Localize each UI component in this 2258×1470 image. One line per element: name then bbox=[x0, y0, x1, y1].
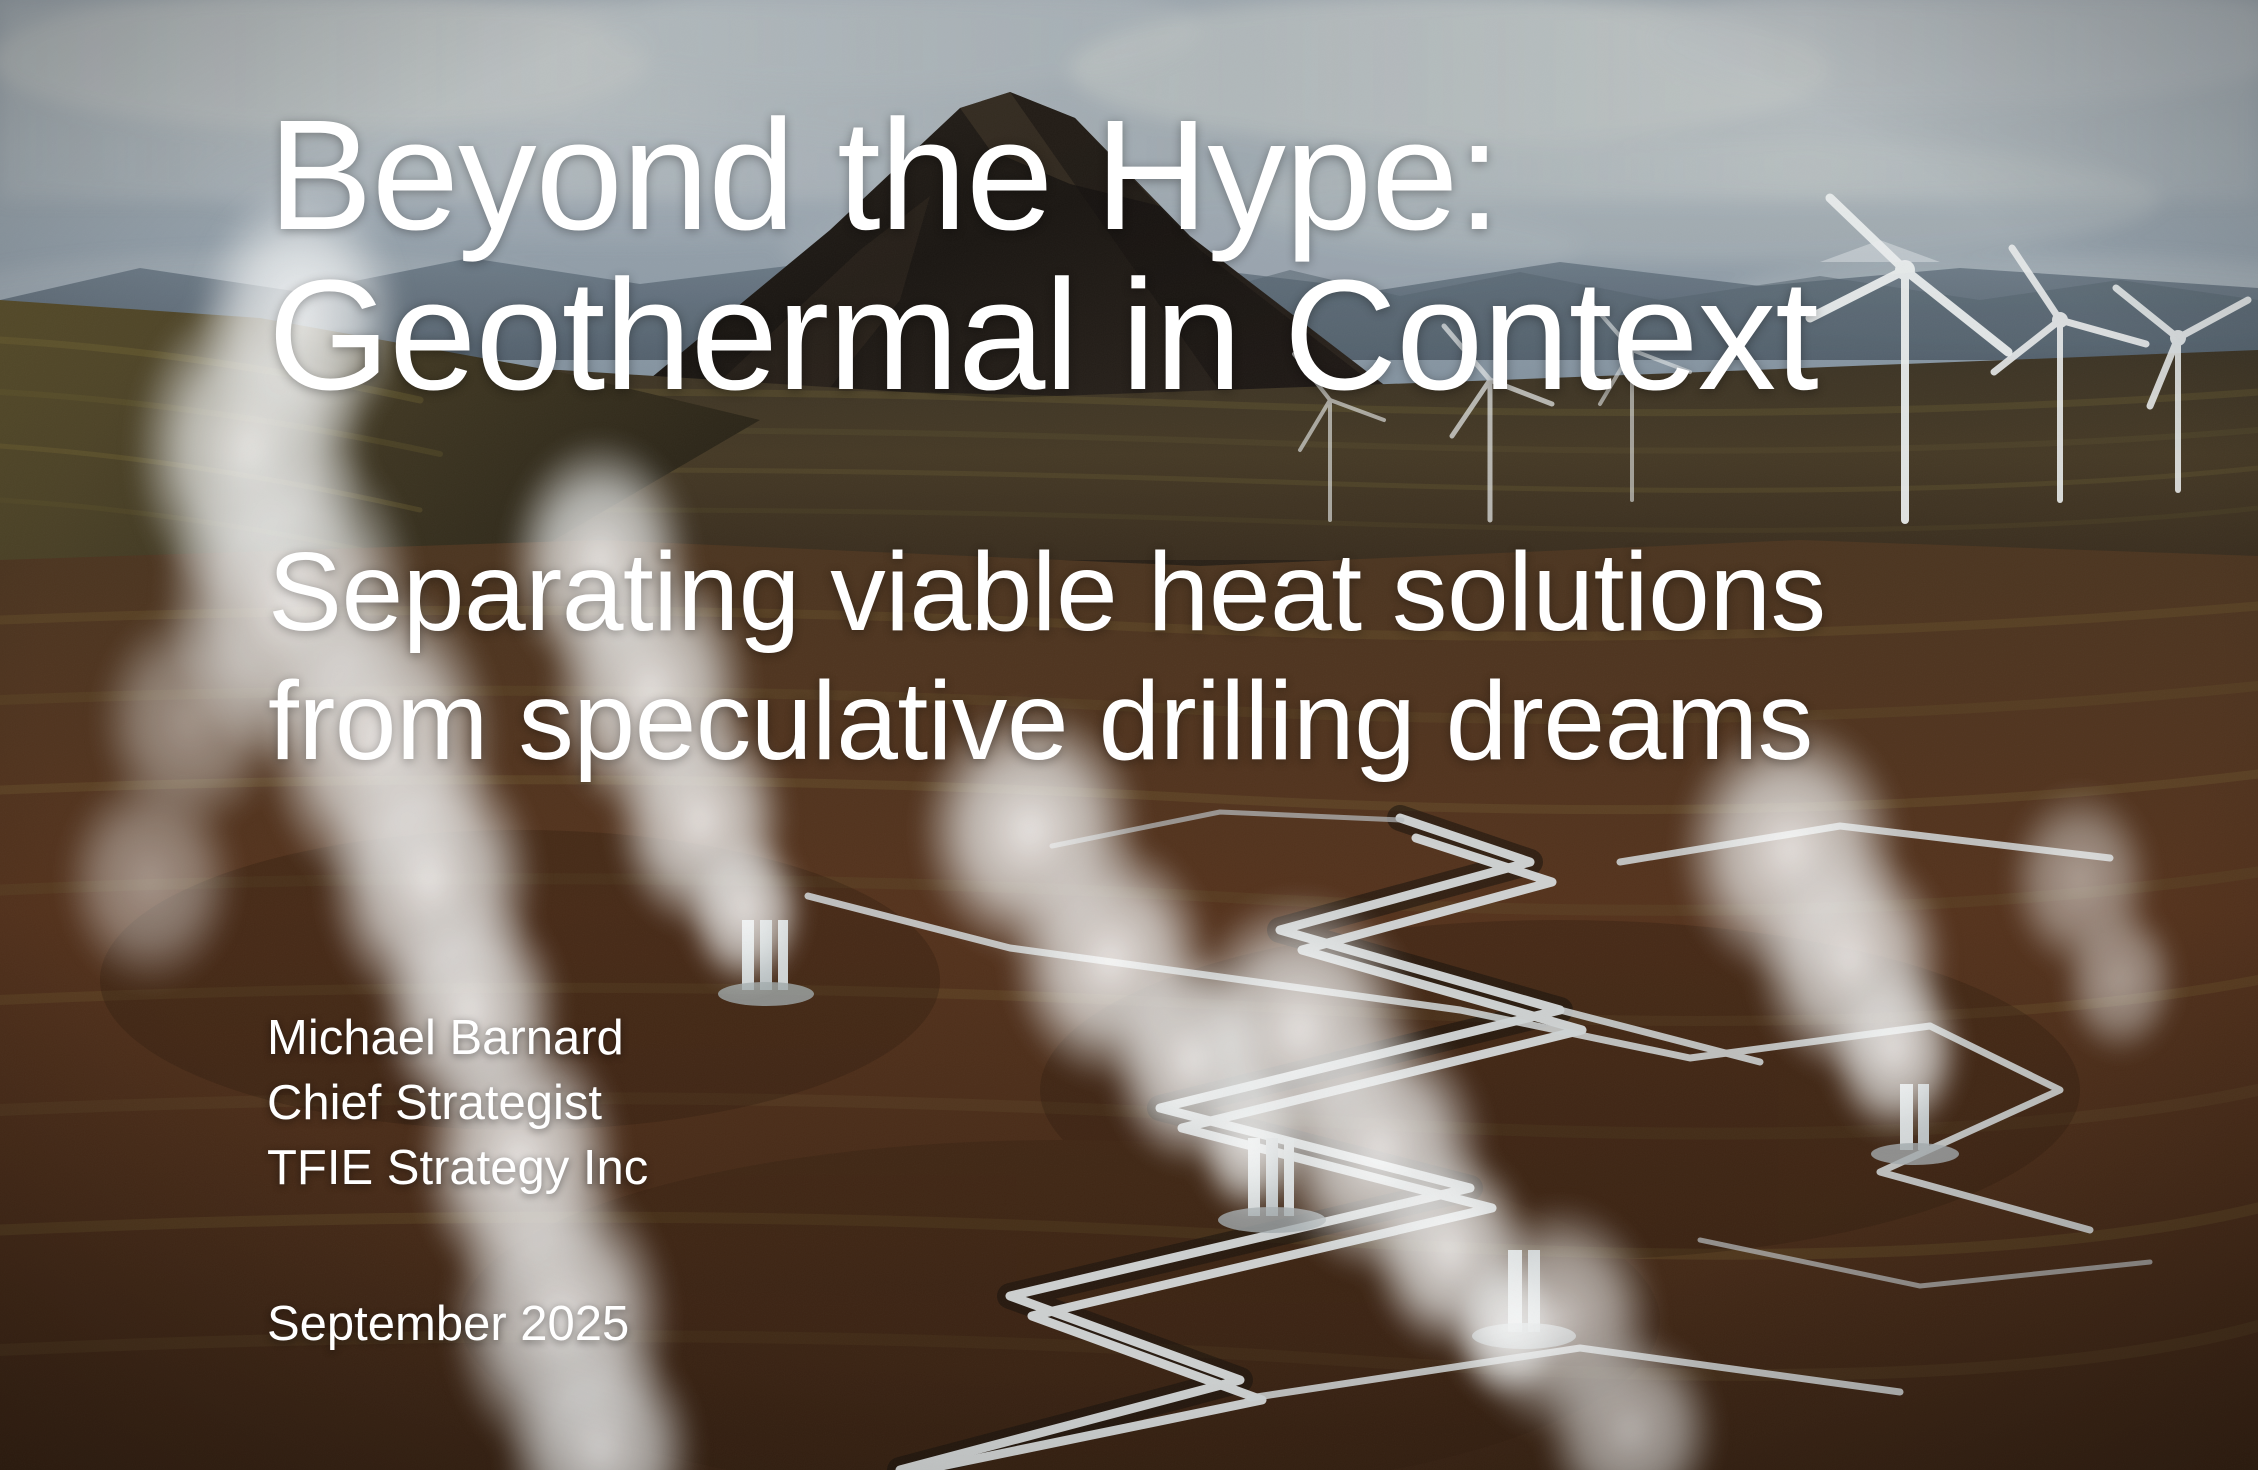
presenter-name: Michael Barnard bbox=[267, 1006, 648, 1071]
title-line-2: Geothermal in Context bbox=[268, 256, 1968, 416]
presentation-date: September 2025 bbox=[267, 1296, 629, 1352]
title-line-1: Beyond the Hype: bbox=[268, 96, 1968, 256]
subtitle-line-2: from speculative drilling dreams bbox=[268, 657, 2018, 786]
subtitle-line-1: Separating viable heat solutions bbox=[268, 528, 2018, 657]
presenter-byline: Michael Barnard Chief Strategist TFIE St… bbox=[267, 1006, 648, 1201]
slide-text-layer: Beyond the Hype: Geothermal in Context S… bbox=[0, 0, 2258, 1470]
presenter-organization: TFIE Strategy Inc bbox=[267, 1136, 648, 1201]
slide-title: Beyond the Hype: Geothermal in Context bbox=[268, 96, 1968, 416]
title-slide: Beyond the Hype: Geothermal in Context S… bbox=[0, 0, 2258, 1470]
presenter-role: Chief Strategist bbox=[267, 1071, 648, 1136]
slide-subtitle: Separating viable heat solutions from sp… bbox=[268, 528, 2018, 786]
